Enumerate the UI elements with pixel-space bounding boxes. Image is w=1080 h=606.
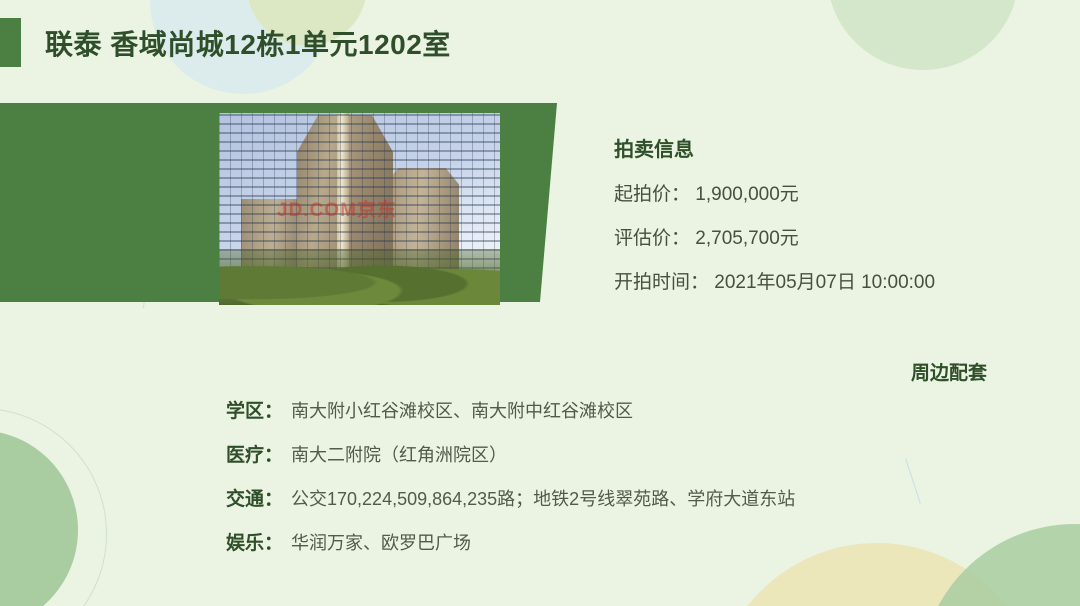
property-photo: JD.COM京东 <box>219 113 500 305</box>
auction-info-block: 拍卖信息 起拍价： 1,900,000元 评估价： 2,705,700元 开拍时… <box>614 133 1044 311</box>
amenity-row-transport: 交通： 公交170,224,509,864,235路；地铁2号线翠苑路、学府大道… <box>226 484 1026 511</box>
amenity-value-medical: 南大二附院（红角洲院区） <box>291 441 507 467</box>
auction-appraised-price: 评估价： 2,705,700元 <box>614 223 1044 250</box>
decor-ring-bottom-left <box>0 408 107 606</box>
auction-info-heading: 拍卖信息 <box>614 133 1044 162</box>
amenities-list: 学区： 南大附小红谷滩校区、南大附中红谷滩校区 医疗： 南大二附院（红角洲院区）… <box>226 396 1026 572</box>
amenity-label-medical: 医疗： <box>226 440 283 467</box>
page-title: 联泰 香域尚城12栋1单元1202室 <box>45 23 451 63</box>
amenity-label-transport: 交通： <box>226 484 283 511</box>
amenity-row-entertainment: 娱乐： 华润万家、欧罗巴广场 <box>226 528 1026 555</box>
amenity-value-transport: 公交170,224,509,864,235路；地铁2号线翠苑路、学府大道东站 <box>291 485 795 511</box>
decor-circle-green-bottom-left <box>0 430 78 606</box>
title-accent-bar <box>0 18 21 67</box>
amenity-label-entertainment: 娱乐： <box>226 528 283 555</box>
auction-start-time: 开拍时间： 2021年05月07日 10:00:00 <box>614 267 1044 294</box>
amenity-value-entertainment: 华润万家、欧罗巴广场 <box>291 529 471 555</box>
amenity-value-school: 南大附小红谷滩校区、南大附中红谷滩校区 <box>291 397 633 423</box>
photo-trees <box>219 249 500 305</box>
auction-starting-price: 起拍价： 1,900,000元 <box>614 179 1044 206</box>
amenity-row-medical: 医疗： 南大二附院（红角洲院区） <box>226 440 1026 467</box>
slide-root: 联泰 香域尚城12栋1单元1202室 JD.COM京东 拍卖信息 起拍价： 1,… <box>0 0 1080 606</box>
page-title-bar: 联泰 香域尚城12栋1单元1202室 <box>0 18 451 67</box>
photo-watermark: JD.COM京东 <box>277 195 397 222</box>
amenity-row-school: 学区： 南大附小红谷滩校区、南大附中红谷滩校区 <box>226 396 1026 423</box>
decor-circle-green-top-right <box>827 0 1019 70</box>
amenity-label-school: 学区： <box>226 396 283 423</box>
amenities-heading: 周边配套 <box>911 358 987 385</box>
